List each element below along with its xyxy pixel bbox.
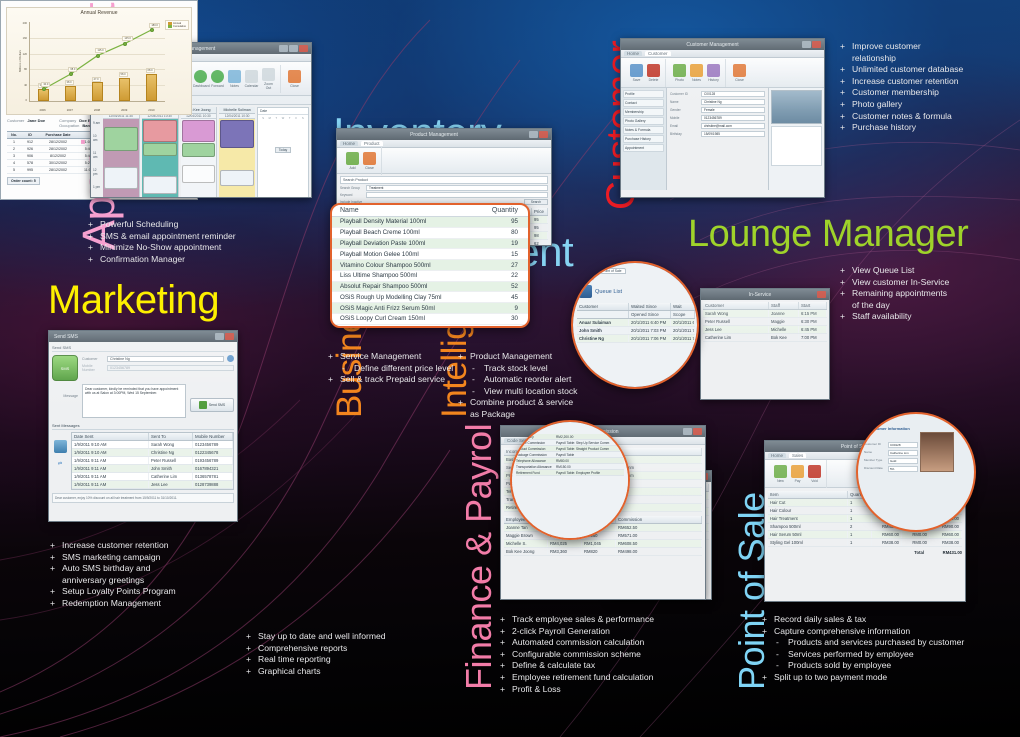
customer-nav-items[interactable]: ProfileContactMembershipPhoto GalleryNot… bbox=[623, 90, 664, 152]
queue-row[interactable]: John Smith20/1/2011 7:03 PM20/1/2011 7:0… bbox=[577, 327, 695, 335]
queue-grid-subheader: Opened Since Scope bbox=[577, 311, 695, 319]
sent-mobile: 0136578781 bbox=[193, 473, 233, 480]
bi-cell: 3 bbox=[7, 153, 21, 159]
mini-calendar-panel[interactable]: Date SMTWTFS Today bbox=[257, 107, 309, 198]
field-value[interactable]: christine@mail.com bbox=[701, 123, 765, 129]
sent-message-row[interactable]: 1/9/2011 9:10 AMChristine Ng0122345678 bbox=[72, 449, 233, 457]
inventory-list-row[interactable]: Playball Density Material 100ml95 bbox=[332, 217, 528, 228]
keyword-row[interactable]: Keyword bbox=[340, 192, 548, 198]
customer-nav-item[interactable]: Notes & Formula bbox=[623, 126, 664, 134]
minimize-icon[interactable] bbox=[215, 333, 224, 340]
sms-compose-area[interactable]: SMS Customer Christine Ng Mobile Number … bbox=[52, 355, 234, 381]
field-value[interactable]: C00128 bbox=[888, 442, 918, 448]
today-button[interactable]: Today bbox=[258, 138, 308, 156]
customer-nav-panel[interactable]: ProfileContactMembershipPhoto GalleryNot… bbox=[621, 88, 667, 190]
sent-side-icon: ⇄ bbox=[52, 432, 68, 490]
popup-field-row[interactable]: Customer IDC00128 bbox=[864, 442, 918, 448]
bullet-marker: + bbox=[88, 231, 95, 243]
chart-xticks: 20062007200820092010 bbox=[29, 108, 165, 112]
appointment-block[interactable] bbox=[182, 165, 216, 183]
field-label: Customer ID bbox=[864, 442, 886, 448]
minimize-icon[interactable] bbox=[802, 41, 811, 48]
queue-grid[interactable]: Customer Waited Since Wait Opened Since … bbox=[577, 303, 695, 385]
sent-message-row[interactable]: 1/9/2011 9:11 AMPeter Russell0193456789 bbox=[72, 457, 233, 465]
inventory-window-title: Product Management bbox=[340, 132, 528, 138]
bullet-marker: + bbox=[840, 76, 847, 88]
calendar-column-3[interactable]: Bok Kee Joong 12/04/2011 10:30 bbox=[181, 107, 218, 198]
inventory-ribbon[interactable]: Add Close bbox=[337, 148, 551, 174]
ribbon-photo-button[interactable]: Photo bbox=[672, 64, 687, 82]
bullet-marker: + bbox=[88, 242, 95, 254]
inventory-list-row[interactable]: Playball Motion Gelee 100ml15 bbox=[332, 249, 528, 260]
feature-item: of the day bbox=[840, 300, 1005, 312]
customer-content[interactable]: ProfileContactMembershipPhoto GalleryNot… bbox=[621, 88, 824, 190]
mini-calendar-grid[interactable]: SMTWTFS bbox=[258, 115, 308, 122]
order-count: Order count: 5 bbox=[7, 177, 40, 185]
sms-window-title: Send SMS bbox=[52, 334, 214, 340]
feature-item: +Photo gallery bbox=[840, 99, 1015, 111]
feature-item: +Automated commission calculation bbox=[500, 637, 710, 649]
pos-void-button[interactable]: Void bbox=[807, 465, 822, 483]
section-title-lounge-manager: Lounge Manager bbox=[688, 216, 968, 252]
table-row[interactable]: Peter RussellMaggie6:30 PM bbox=[703, 318, 827, 326]
product-quantity: 30 bbox=[482, 315, 528, 322]
bullet-marker: + bbox=[840, 265, 847, 277]
pos-total-row: Total RM431.00 bbox=[768, 550, 962, 555]
bullet-marker: + bbox=[328, 374, 335, 386]
ribbon-save-button[interactable]: Save bbox=[629, 64, 644, 82]
queue-opened: 20/1/2011 7:05 PM bbox=[671, 335, 695, 342]
chart-point bbox=[42, 87, 46, 91]
pos-row[interactable]: Styling Gel 100ml1RM38.00RM0.00RM38.00 bbox=[768, 539, 962, 547]
inventory-list-row[interactable]: OSiS Loopy Curl Cream 150ml30 bbox=[332, 314, 528, 325]
close-icon[interactable] bbox=[299, 45, 308, 52]
product-quantity: 22 bbox=[482, 272, 528, 279]
ribbon-group-actions: Add Close bbox=[341, 147, 382, 175]
customer-window-title: Customer Management bbox=[624, 42, 801, 48]
lounge-tabstrip[interactable]: Lounge Point of Sale bbox=[579, 267, 697, 275]
chart-xtick: 2009 bbox=[111, 108, 138, 112]
customer-field-row[interactable]: Emailchristine@mail.com bbox=[670, 123, 765, 129]
feature-text: Customer notes & formula bbox=[852, 111, 952, 123]
sent-messages-label: Sent Messages bbox=[52, 423, 234, 430]
field-value[interactable]: Gold bbox=[888, 458, 918, 464]
sent-messages-area[interactable]: ⇄ Date Sent Sent To Mobile Number 1/9/20… bbox=[52, 432, 234, 490]
customer-nav-item[interactable]: Appointment bbox=[623, 144, 664, 152]
field-label: Birthday bbox=[670, 132, 698, 136]
feature-item: relationship bbox=[840, 53, 1015, 65]
table-row[interactable]: Catherine LimBok Kee7:00 PM bbox=[703, 334, 827, 342]
feature-item: +Powerful Scheduling bbox=[88, 219, 288, 231]
search-button[interactable]: Search bbox=[524, 199, 548, 205]
customer-app-window[interactable]: Customer Management Home Customer Save D… bbox=[620, 38, 825, 198]
customer-photo-panel[interactable] bbox=[768, 88, 824, 190]
ribbon-close-button[interactable]: Close bbox=[732, 64, 747, 82]
income-label: Product Commission bbox=[516, 447, 556, 451]
feature-text: Improve customer bbox=[852, 41, 921, 53]
income-label: Basic Salary bbox=[516, 435, 556, 439]
bullet-marker: + bbox=[762, 614, 769, 626]
send-sms-button[interactable]: Send SMS bbox=[190, 398, 234, 412]
bullet-marker bbox=[840, 300, 847, 312]
feature-text: Sell & track Prepaid service bbox=[340, 374, 445, 386]
pos-cell: 1 bbox=[848, 531, 872, 538]
feature-text: Setup Loyalty Points Program bbox=[62, 586, 176, 598]
income-label: Package Commission bbox=[516, 453, 556, 457]
table-row[interactable]: Michelle S.RM4,025RM1,045RM608.50 bbox=[504, 540, 702, 548]
customer-nav-item[interactable]: Membership bbox=[623, 108, 664, 116]
bi-cell: 578 bbox=[21, 160, 39, 166]
customer-nav-item[interactable]: Contact bbox=[623, 99, 664, 107]
chart-ytick: 120 bbox=[13, 53, 27, 56]
appointment-block[interactable] bbox=[220, 120, 254, 148]
bullet-marker: + bbox=[458, 351, 465, 363]
bi-cell: 912 bbox=[21, 139, 39, 145]
inventory-list-rows[interactable]: Playball Density Material 100ml95Playbal… bbox=[332, 217, 528, 325]
income-setting: Payroll Table: Step Up Service Comm bbox=[556, 441, 624, 445]
bullet-marker: + bbox=[840, 277, 847, 289]
customer-tabstrip[interactable]: Home Customer bbox=[621, 50, 824, 58]
sms-message-area[interactable]: Message Dear customer, kindly be reminde… bbox=[52, 384, 234, 418]
ribbon-add-button[interactable]: Add bbox=[345, 152, 360, 170]
feature-text: View customer In-Service bbox=[852, 277, 949, 289]
customer-titlebar: Customer Management bbox=[621, 39, 824, 50]
feature-item: +Stay up to date and well informed bbox=[246, 631, 446, 643]
chart-xtick: 2010 bbox=[138, 108, 165, 112]
maximize-icon[interactable] bbox=[289, 45, 298, 52]
customer-form[interactable]: Customer IDC00128NameChristine NgGenderF… bbox=[667, 88, 768, 190]
pos-ribbon-group: New Pay Void bbox=[769, 460, 827, 488]
search-product-field[interactable]: Search Product bbox=[340, 176, 548, 184]
lounge-secondary-window[interactable]: In-Service CustomerStaffStart Sarah Wong… bbox=[700, 288, 830, 400]
sent-message-row[interactable]: 1/9/2011 9:10 AMSarah Wong0123456789 bbox=[72, 441, 233, 449]
bullet-marker: + bbox=[762, 626, 769, 638]
income-setting: Payroll Table bbox=[556, 453, 624, 457]
pos-pay-button[interactable]: Pay bbox=[790, 465, 805, 483]
field-value[interactable]: Christine Ng bbox=[701, 99, 765, 105]
appointment-block[interactable] bbox=[104, 167, 138, 189]
field-value[interactable]: C00128 bbox=[701, 91, 765, 97]
feature-text: Graphical charts bbox=[258, 666, 321, 678]
sent-message-row[interactable]: 1/9/2011 9:11 AMJohn Smith0167894321 bbox=[72, 465, 233, 473]
inventory-list-row[interactable]: Liss Ultime Shampoo 500ml22 bbox=[332, 271, 528, 282]
product-name: OSiS Rough Up Modelling Clay 75ml bbox=[332, 294, 482, 301]
ribbon-delete-button[interactable]: Delete bbox=[646, 64, 661, 82]
feature-text: Powerful Scheduling bbox=[100, 219, 178, 231]
feature-item: +View Queue List bbox=[840, 265, 1005, 277]
customer-field-row[interactable]: Customer IDC00128 bbox=[670, 91, 765, 97]
pos-cell: RM0.00 bbox=[902, 539, 930, 546]
queue-opened: 20/1/2011 7:01 PM bbox=[671, 327, 695, 334]
feature-item: +Remaining appointments bbox=[840, 288, 1005, 300]
feature-item: +Track employee sales & performance bbox=[500, 614, 710, 626]
finance-circle-grid[interactable]: Income Type Basic SalaryRM2,200.00Servic… bbox=[516, 428, 624, 476]
sent-to: Catherine Lim bbox=[149, 473, 193, 480]
feature-text: as Package bbox=[470, 409, 515, 421]
feature-text: Minimize No-Show appointment bbox=[100, 242, 221, 254]
customer-nav-item[interactable]: Purchase History bbox=[623, 135, 664, 143]
ribbon-calendar-button[interactable]: Calendar bbox=[244, 70, 259, 88]
bullet-marker: - bbox=[472, 386, 479, 398]
tab-home[interactable]: Home bbox=[768, 453, 786, 458]
feature-item: +Sell & track Prepaid service bbox=[328, 374, 458, 386]
field-value[interactable]: 5% bbox=[888, 466, 918, 472]
chart-yticks: 20016012080400 bbox=[13, 22, 27, 102]
bullet-marker: + bbox=[840, 41, 847, 53]
customer-field-row[interactable]: Birthday15/09/1985 bbox=[670, 131, 765, 137]
customer-nav-item[interactable]: Photo Gallery bbox=[623, 117, 664, 125]
sms-customer-row[interactable]: Customer Christine Ng bbox=[82, 355, 234, 362]
feature-text: Capture comprehensive information bbox=[774, 626, 910, 638]
appointment-block[interactable] bbox=[143, 143, 177, 156]
feature-item: +Increase customer retention bbox=[50, 540, 250, 552]
inventory-list-row[interactable]: Playball Beach Creme 100ml80 bbox=[332, 228, 528, 239]
bullet-marker: - bbox=[776, 660, 783, 672]
bi-cell: 28/12/2002 bbox=[39, 146, 77, 152]
inventory-list-row[interactable]: OSiS Rough Up Modelling Clay 75ml45 bbox=[332, 292, 528, 303]
bullet-marker: + bbox=[50, 598, 57, 610]
product-name: Playball Beach Creme 100ml bbox=[332, 229, 482, 236]
calendar-column-1[interactable]: Maggie Brown 12/04/2011 11:30 bbox=[103, 107, 140, 198]
sms-customer-select[interactable]: Christine Ng bbox=[107, 356, 224, 362]
chart-ytick: 200 bbox=[13, 22, 27, 25]
tab-product[interactable]: Product bbox=[361, 141, 383, 146]
minimize-icon[interactable] bbox=[683, 428, 692, 435]
close-icon[interactable] bbox=[817, 291, 826, 298]
bullet-marker: + bbox=[840, 87, 847, 99]
sms-mobile-row: Mobile Number 0123456789 bbox=[82, 364, 234, 372]
close-icon[interactable] bbox=[539, 131, 548, 138]
popup-field-row[interactable]: Member TypeGold bbox=[864, 458, 918, 464]
table-row[interactable]: Sarah WongJoanne6:15 PM bbox=[703, 310, 827, 318]
bi-cell: 28/12/2002 bbox=[39, 167, 77, 173]
field-value[interactable]: Catherine Lim bbox=[888, 450, 918, 456]
section-title-marketing: Marketing bbox=[48, 281, 219, 319]
feature-text: Services performed by employee bbox=[788, 649, 914, 661]
bullet-marker: + bbox=[88, 219, 95, 231]
chart-xtick: 2007 bbox=[56, 108, 83, 112]
close-icon[interactable] bbox=[812, 41, 821, 48]
inventory-list-row[interactable]: Vitamino Colour Shampoo 500ml27 bbox=[332, 260, 528, 271]
ribbon-forward-button[interactable]: Forward bbox=[210, 70, 225, 88]
field-label: Discount Rate bbox=[864, 466, 886, 472]
product-quantity: 27 bbox=[482, 262, 528, 269]
ribbon-close-button[interactable]: Close bbox=[287, 70, 302, 88]
chart-plot-area: 30.038.047.058.068.030.068.0115.0145.018… bbox=[29, 22, 165, 102]
tab-sales[interactable]: Sales bbox=[789, 453, 806, 458]
field-label: Name bbox=[670, 100, 698, 104]
bullet-marker: + bbox=[500, 626, 507, 638]
appointment-block[interactable] bbox=[182, 143, 216, 157]
appointment-block[interactable] bbox=[143, 176, 177, 194]
chart-ytick: 80 bbox=[13, 68, 27, 71]
chart-point bbox=[150, 28, 154, 32]
popup-fields[interactable]: Customer IDC00128NameCatherine LimMember… bbox=[864, 442, 918, 474]
feature-text: Remaining appointments bbox=[852, 288, 947, 300]
feature-item: +Graphical charts bbox=[246, 666, 446, 678]
customer-nav-item[interactable]: Profile bbox=[623, 90, 664, 98]
feature-item: +Improve customer bbox=[840, 41, 1015, 53]
popup-field-row[interactable]: NameCatherine Lim bbox=[864, 450, 918, 456]
feature-item: +Setup Loyalty Points Program bbox=[50, 586, 250, 598]
finance-circle-rows[interactable]: Basic SalaryRM2,200.00Service Commission… bbox=[516, 434, 624, 476]
appointment-calendar-area[interactable]: 9 am 10 am 11 am 12 pm 1 pm 2 pm Maggie … bbox=[91, 105, 311, 198]
feature-item: +SMS & email appointment reminder bbox=[88, 231, 288, 243]
queue-row[interactable]: Anuar Sulaiman20/1/2011 6:40 PM20/1/2011… bbox=[577, 319, 695, 327]
appointment-block[interactable] bbox=[220, 170, 254, 186]
appointment-block[interactable] bbox=[182, 120, 216, 142]
bullet-marker: + bbox=[88, 254, 95, 266]
sent-date: 1/9/2011 9:11 AM bbox=[72, 457, 149, 464]
feature-item: +Define & calculate tax bbox=[500, 660, 710, 672]
product-quantity: 15 bbox=[482, 251, 528, 258]
feature-list-finance: +Track employee sales & performance+2-cl… bbox=[500, 614, 710, 695]
customer-avatar bbox=[920, 432, 954, 472]
tab-home[interactable]: Home bbox=[340, 141, 358, 146]
bullet-marker: + bbox=[246, 631, 253, 643]
feature-text: Track employee sales & performance bbox=[512, 614, 654, 626]
bullet-marker: + bbox=[840, 288, 847, 300]
lounge-queue-highlight[interactable]: Lounge Point of Sale Queue List Queue Li… bbox=[571, 261, 699, 389]
table-row[interactable]: Bok Kee JoongRM3,360RM820RM498.00 bbox=[504, 548, 702, 556]
ribbon-close-button[interactable]: Close bbox=[362, 152, 377, 170]
ribbon-notes-button[interactable]: Notes bbox=[227, 70, 242, 88]
income-label: Service Commission bbox=[516, 441, 556, 445]
feature-text: Employee retirement fund calculation bbox=[512, 672, 653, 684]
product-name: Liss Ultime Shampoo 500ml bbox=[332, 272, 482, 279]
popup-title: Customer Information bbox=[868, 426, 968, 431]
product-name: Playball Motion Gelee 100ml bbox=[332, 251, 482, 258]
chart-point-label: 68.0 bbox=[68, 67, 77, 72]
product-name: Vitamino Colour Shampoo 500ml bbox=[332, 262, 482, 269]
feature-text: SMS marketing campaign bbox=[62, 552, 160, 564]
feature-item: +View customer In-Service bbox=[840, 277, 1005, 289]
bullet-marker: - bbox=[342, 363, 349, 375]
table-row[interactable]: Jess LeeMichelle6:45 PM bbox=[703, 326, 827, 334]
feature-item: +Increase customer retention bbox=[840, 76, 1015, 88]
calendar-column-4[interactable]: Michelle Soliman 12/04/2011 10:30 bbox=[219, 107, 255, 198]
feature-text: relationship bbox=[852, 53, 896, 65]
close-icon[interactable] bbox=[693, 428, 702, 435]
pos-cell: RM38.00 bbox=[930, 539, 962, 546]
bullet-marker: + bbox=[500, 672, 507, 684]
appointment-block[interactable] bbox=[143, 120, 177, 142]
sent-message-rows[interactable]: 1/9/2011 9:10 AMSarah Wong01234567891/9/… bbox=[72, 441, 233, 489]
inventory-list-row[interactable]: Playball Deviation Paste 100ml19 bbox=[332, 239, 528, 250]
minimize-icon[interactable] bbox=[279, 45, 288, 52]
ribbon-zoomout-button[interactable]: Zoom Out bbox=[261, 68, 276, 90]
pos-row[interactable]: Hair Serum 50ml1RM60.00RM0.00RM60.00 bbox=[768, 531, 962, 539]
product-quantity: 45 bbox=[482, 294, 528, 301]
customer-field-row[interactable]: GenderFemale bbox=[670, 107, 765, 113]
pos-cell: Hair Serum 50ml bbox=[768, 531, 848, 538]
sent-mobile: 0122345678 bbox=[193, 449, 233, 456]
sent-mobile: 0123456789 bbox=[193, 441, 233, 448]
bullet-marker: + bbox=[50, 540, 57, 552]
appointment-block[interactable] bbox=[104, 127, 138, 151]
customer-ribbon[interactable]: Save Delete Photo Notes History Close bbox=[621, 58, 824, 88]
feature-item: +Capture comprehensive information bbox=[762, 626, 1012, 638]
ribbon-dashboard-button[interactable]: Dashboard bbox=[193, 70, 208, 88]
poster-canvas: Appointment Inventory Management Custome… bbox=[0, 0, 1020, 737]
finance-circle-row[interactable]: Retirement FundPayroll Table: Employee P… bbox=[516, 470, 624, 476]
feature-text: Automated commission calculation bbox=[512, 637, 644, 649]
bi-cell: 2 bbox=[7, 146, 21, 152]
income-setting: RM2,200.00 bbox=[556, 435, 624, 439]
lounge-b-body[interactable]: CustomerStaffStart Sarah WongJoanne6:15 … bbox=[701, 300, 829, 344]
sms-message-textarea[interactable]: Dear customer, kindly be reminded that y… bbox=[82, 384, 186, 418]
customer-field-list[interactable]: Customer IDC00128NameChristine NgGenderF… bbox=[670, 91, 765, 137]
inventory-list-row[interactable]: Absolut Repair Shampoo 500ml52 bbox=[332, 282, 528, 293]
tab-customer[interactable]: Customer bbox=[645, 51, 671, 56]
chart-title: Annual Revenue bbox=[7, 8, 191, 16]
bullet-marker bbox=[458, 409, 465, 421]
refresh-icon[interactable] bbox=[227, 355, 234, 362]
send-sms-window[interactable]: Send SMS Send SMS SMS Customer Christine… bbox=[48, 330, 238, 522]
customer-field-row[interactable]: NameChristine Ng bbox=[670, 99, 765, 105]
product-name: Absolut Repair Shampoo 500ml bbox=[332, 283, 482, 290]
pos-cell: Shampoo 500ml bbox=[768, 523, 848, 530]
feature-text: 2-click Payroll Generation bbox=[512, 626, 610, 638]
bullet-marker: + bbox=[500, 614, 507, 626]
calendar-column-2[interactable]: Joanne Tan 12/04/2011 10:30 bbox=[142, 107, 179, 198]
bi-cell: 926 bbox=[21, 146, 39, 152]
field-value[interactable]: 0123456789 bbox=[701, 115, 765, 121]
feature-item: +Minimize No-Show appointment bbox=[88, 242, 288, 254]
sent-to: Christine Ng bbox=[149, 449, 193, 456]
sent-message-row[interactable]: 1/9/2011 9:11 AMJess Lee0128739888 bbox=[72, 481, 233, 489]
queue-row[interactable]: Christine Ng20/1/2011 7:06 PM20/1/2011 7… bbox=[577, 335, 695, 343]
lounge-panel-title-row: Queue List bbox=[579, 285, 622, 298]
minimize-icon[interactable] bbox=[529, 131, 538, 138]
feature-item: -Define different price level bbox=[328, 363, 458, 375]
pos-new-sale-button[interactable]: New bbox=[773, 465, 788, 483]
field-value[interactable]: 15/09/1985 bbox=[701, 131, 765, 137]
bi-cell: 4 bbox=[7, 160, 21, 166]
income-label: Telephone Allowance bbox=[516, 459, 556, 463]
feature-item: +2-click Payroll Generation bbox=[500, 626, 710, 638]
tab-home[interactable]: Home bbox=[624, 51, 642, 56]
chart-point bbox=[69, 72, 73, 76]
popup-field-row[interactable]: Discount Rate5% bbox=[864, 466, 918, 472]
bullet-marker: + bbox=[500, 660, 507, 672]
inventory-highlight-list[interactable]: Name Quantity Playball Density Material … bbox=[330, 203, 530, 328]
feature-item: +Configurable commission scheme bbox=[500, 649, 710, 661]
customer-information-popup[interactable]: Customer Information Customer IDC00128Na… bbox=[856, 412, 976, 532]
sms-body[interactable]: Send SMS SMS Customer Christine Ng Mobil… bbox=[49, 342, 237, 506]
field-label: Member Type bbox=[864, 458, 886, 464]
annual-revenue-chart: Annual Revenue Millions of Dollars 20016… bbox=[6, 7, 192, 115]
search-group-row[interactable]: Search Group Treatment bbox=[340, 185, 548, 191]
close-icon[interactable] bbox=[225, 333, 234, 340]
arrow-icon[interactable]: ⇄ bbox=[52, 461, 68, 467]
ribbon-notes-button[interactable]: Notes bbox=[689, 64, 704, 82]
sent-to: Sarah Wong bbox=[149, 441, 193, 448]
customer-field-row[interactable]: Mobile0123456789 bbox=[670, 115, 765, 121]
sent-message-row[interactable]: 1/9/2011 9:11 AMCatherine Lim0136578781 bbox=[72, 473, 233, 481]
customer-notes-box[interactable] bbox=[771, 126, 822, 166]
inventory-list-row[interactable]: OSiS Magic Anti Frizz Serum 50ml9 bbox=[332, 303, 528, 314]
queue-rows[interactable]: Anuar Sulaiman20/1/2011 6:40 PM20/1/2011… bbox=[577, 319, 695, 343]
chart-point-label: 115.0 bbox=[95, 48, 105, 53]
queue-waited: 20/1/2011 7:03 PM bbox=[629, 327, 671, 334]
feature-list-marketing: +Increase customer retention+SMS marketi… bbox=[50, 540, 250, 610]
feature-text: Customer membership bbox=[852, 87, 939, 99]
ribbon-history-button[interactable]: History bbox=[706, 64, 721, 82]
bullet-marker: + bbox=[246, 666, 253, 678]
feature-text: of the day bbox=[852, 300, 890, 312]
field-value[interactable]: Female bbox=[701, 107, 765, 113]
